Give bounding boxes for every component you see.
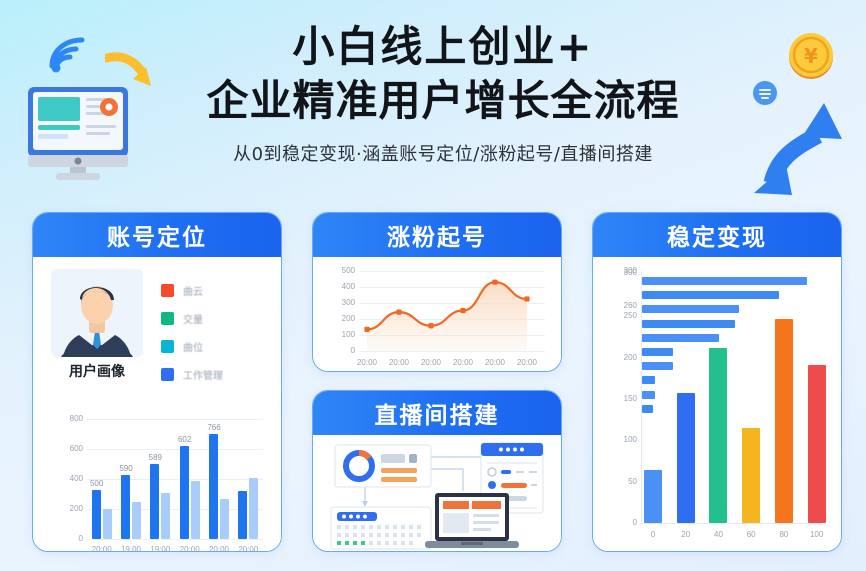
vertical-bar bbox=[677, 393, 695, 523]
wifi-signal-icon bbox=[46, 36, 90, 76]
vertical-bar bbox=[742, 428, 760, 523]
y-tick: 800 bbox=[55, 414, 83, 423]
horizontal-bar bbox=[642, 391, 655, 399]
gridline bbox=[87, 509, 263, 510]
gridline bbox=[87, 479, 263, 480]
card-fans-title: 涨粉起号 bbox=[387, 218, 487, 252]
svg-text:¥: ¥ bbox=[804, 44, 818, 68]
y-tick: 150 bbox=[607, 394, 637, 403]
legend-swatch bbox=[161, 368, 174, 381]
chart-legend: 曲云交量曲位工作管理 bbox=[161, 279, 223, 391]
legend-swatch bbox=[161, 340, 174, 353]
legend-swatch bbox=[161, 284, 174, 297]
card-revenue[interactable]: 稳定变现 05010015020025026030030002040608010… bbox=[592, 212, 842, 552]
card-live-header: 直播间搭建 bbox=[313, 391, 561, 435]
x-tick: 60 bbox=[737, 530, 765, 539]
legend-label: 工作管理 bbox=[183, 367, 223, 382]
desktop-monitor-illustration bbox=[26, 85, 134, 181]
x-tick: 0 bbox=[639, 530, 667, 539]
gridline bbox=[87, 419, 263, 420]
x-tick: 100 bbox=[803, 530, 831, 539]
y-tick: 0 bbox=[607, 518, 637, 527]
bar bbox=[209, 434, 218, 539]
y-tick: 0 bbox=[329, 346, 355, 355]
card-fans-growth[interactable]: 涨粉起号 0100200300400500 20:0020:0020:0020:… bbox=[312, 212, 562, 372]
bar bbox=[103, 509, 112, 539]
bar bbox=[191, 481, 200, 540]
x-tick: 20:00 bbox=[417, 358, 445, 367]
y-tick: 500 bbox=[329, 266, 355, 275]
vertical-bar bbox=[709, 348, 727, 523]
legend-item: 曲位 bbox=[161, 335, 223, 357]
x-tick: 20:00 bbox=[234, 545, 262, 552]
y-tick: 260 bbox=[607, 301, 637, 310]
x-tick: 19:00 bbox=[117, 545, 145, 552]
card-revenue-title: 稳定变现 bbox=[667, 218, 767, 252]
vertical-bar bbox=[808, 365, 826, 523]
card-live-body bbox=[313, 435, 561, 552]
horizontal-bar bbox=[642, 334, 719, 342]
live-room-illustration bbox=[313, 435, 562, 552]
bar-value-label: 589 bbox=[145, 453, 165, 462]
x-tick: 80 bbox=[770, 530, 798, 539]
bar-value-label: 590 bbox=[116, 464, 136, 473]
x-tick: 20 bbox=[672, 530, 700, 539]
avatar-label: 用户画像 bbox=[47, 361, 147, 381]
gridline bbox=[87, 539, 263, 540]
y-tick: 300 bbox=[607, 266, 637, 275]
horizontal-bar bbox=[642, 320, 735, 328]
legend-item: 工作管理 bbox=[161, 363, 223, 385]
x-tick: 20:00 bbox=[88, 545, 116, 552]
y-tick: 250 bbox=[607, 311, 637, 320]
bar bbox=[180, 446, 189, 539]
poster-header: 小白线上创业+ 企业精准用户增长全流程 从0到稳定变现·涵盖账号定位/涨粉起号/… bbox=[0, 0, 866, 205]
card-account-body: 用户画像 曲云交量曲位工作管理 020040060080050020:00590… bbox=[33, 257, 281, 552]
horizontal-bar bbox=[642, 277, 807, 285]
card-account-positioning[interactable]: 账号定位 用户画像 bbox=[32, 212, 282, 552]
x-tick: 20:00 bbox=[481, 358, 509, 367]
title-line2: 企业精准用户增长全流程 bbox=[133, 76, 753, 126]
gridline bbox=[87, 449, 263, 450]
bar bbox=[238, 491, 247, 539]
y-tick: 200 bbox=[607, 353, 637, 362]
axis-line bbox=[641, 523, 821, 524]
account-bar-chart: 020040060080050020:0059019:0058919:00602… bbox=[43, 407, 275, 552]
horizontal-bar bbox=[642, 376, 655, 384]
y-tick: 300 bbox=[329, 298, 355, 307]
gridline bbox=[359, 351, 545, 352]
y-tick: 200 bbox=[55, 504, 83, 513]
card-live-title: 直播间搭建 bbox=[375, 396, 500, 430]
yuan-coin-icon: ¥ bbox=[786, 31, 836, 81]
horizontal-bar bbox=[642, 291, 779, 299]
y-tick: 600 bbox=[55, 444, 83, 453]
bar bbox=[92, 490, 101, 540]
card-account-title: 账号定位 bbox=[107, 218, 207, 252]
card-live-room[interactable]: 直播间搭建 bbox=[312, 390, 562, 552]
legend-swatch bbox=[161, 312, 174, 325]
y-tick: 400 bbox=[329, 282, 355, 291]
bar-value-label: 500 bbox=[87, 479, 107, 488]
bar-value-label: 766 bbox=[204, 423, 224, 432]
y-tick: 100 bbox=[329, 330, 355, 339]
x-tick: 20:00 bbox=[353, 358, 381, 367]
x-tick: 40 bbox=[704, 530, 732, 539]
x-tick: 20:00 bbox=[205, 545, 233, 552]
horizontal-bar bbox=[642, 405, 653, 413]
card-fans-body: 0100200300400500 20:0020:0020:0020:0020:… bbox=[313, 257, 561, 372]
horizontal-bar bbox=[642, 305, 739, 313]
y-tick: 200 bbox=[329, 314, 355, 323]
x-tick: 20:00 bbox=[449, 358, 477, 367]
bar bbox=[249, 478, 258, 540]
legend-label: 曲云 bbox=[183, 283, 203, 298]
y-tick: 50 bbox=[607, 477, 637, 486]
legend-label: 曲位 bbox=[183, 339, 203, 354]
legend-item: 曲云 bbox=[161, 279, 223, 301]
fans-line-chart: 0100200300400500 20:0020:0020:0020:0020:… bbox=[321, 265, 555, 372]
legend-label: 交量 bbox=[183, 311, 203, 326]
bar-value-label: 602 bbox=[175, 435, 195, 444]
horizontal-bar bbox=[642, 348, 673, 356]
bar bbox=[150, 464, 159, 539]
avatar bbox=[51, 269, 143, 357]
card-fans-header: 涨粉起号 bbox=[313, 213, 561, 257]
horizontal-bar bbox=[642, 362, 673, 370]
card-account-header: 账号定位 bbox=[33, 213, 281, 257]
x-tick: 20:00 bbox=[385, 358, 413, 367]
line-series bbox=[359, 271, 545, 351]
bar bbox=[220, 499, 229, 540]
y-tick: 0 bbox=[55, 534, 83, 543]
subtitle: 从0到稳定变现·涵盖账号定位/涨粉起号/直播间搭建 bbox=[133, 140, 753, 166]
bar bbox=[121, 475, 130, 540]
y-tick: 100 bbox=[607, 435, 637, 444]
card-revenue-header: 稳定变现 bbox=[593, 213, 841, 257]
bar bbox=[161, 493, 170, 540]
persona-row: 用户画像 曲云交量曲位工作管理 bbox=[33, 257, 281, 373]
x-tick: 20:00 bbox=[513, 358, 541, 367]
x-tick: 20:00 bbox=[176, 545, 204, 552]
title-block: 小白线上创业+ 企业精准用户增长全流程 从0到稳定变现·涵盖账号定位/涨粉起号/… bbox=[133, 22, 753, 166]
double-headed-curve-arrow-icon bbox=[752, 95, 848, 200]
x-tick: 19:00 bbox=[146, 545, 174, 552]
vertical-bar bbox=[644, 470, 662, 523]
revenue-combo-chart: 050100150200250260300300020406080100 bbox=[601, 263, 835, 551]
y-tick: 400 bbox=[55, 474, 83, 483]
vertical-bar bbox=[775, 319, 793, 523]
card-revenue-body: 050100150200250260300300020406080100 bbox=[593, 257, 841, 552]
legend-item: 交量 bbox=[161, 307, 223, 329]
poster-root: 小白线上创业+ 企业精准用户增长全流程 从0到稳定变现·涵盖账号定位/涨粉起号/… bbox=[0, 0, 866, 571]
title-line1: 小白线上创业+ bbox=[133, 22, 753, 72]
bar bbox=[132, 502, 141, 540]
